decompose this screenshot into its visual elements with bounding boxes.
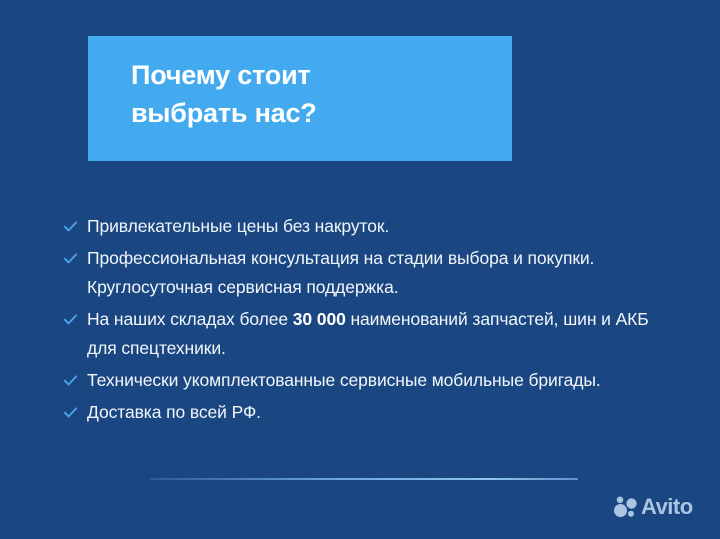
- list-item: На наших складах более 30 000 наименован…: [62, 305, 662, 363]
- check-icon: [62, 212, 78, 241]
- text-run: Профессиональная консультация на стадии …: [87, 248, 594, 297]
- avito-wordmark: Avito: [641, 494, 693, 520]
- heading-box: Почему стоит выбрать нас?: [88, 36, 512, 161]
- avito-dots-icon: [613, 494, 639, 520]
- list-item-label: Доставка по всей РФ.: [87, 398, 662, 427]
- list-item: Технически укомплектованные сервисные мо…: [62, 366, 662, 395]
- list-item-label: Профессиональная консультация на стадии …: [87, 244, 662, 302]
- check-icon: [62, 305, 78, 334]
- check-icon: [62, 244, 78, 273]
- divider: [150, 478, 578, 480]
- text-run: Привлекательные цены без накруток.: [87, 216, 389, 236]
- check-icon: [62, 398, 78, 427]
- list-item-label: На наших складах более 30 000 наименован…: [87, 305, 662, 363]
- list-item-label: Технически укомплектованные сервисные мо…: [87, 366, 662, 395]
- check-icon: [62, 366, 78, 395]
- list-item: Привлекательные цены без накруток.: [62, 212, 662, 241]
- page-title: Почему стоит выбрать нас?: [131, 56, 317, 132]
- text-run: На наших складах более: [87, 309, 293, 329]
- avito-watermark: Avito: [613, 494, 693, 520]
- emphasis-value: 30 000: [293, 309, 346, 329]
- text-run: Технически укомплектованные сервисные мо…: [87, 370, 601, 390]
- list-item: Доставка по всей РФ.: [62, 398, 662, 427]
- list-item: Профессиональная консультация на стадии …: [62, 244, 662, 302]
- slide-canvas: Почему стоит выбрать нас? Привлекательны…: [0, 0, 720, 539]
- benefits-list: Привлекательные цены без накруток.Профес…: [62, 212, 662, 430]
- list-item-label: Привлекательные цены без накруток.: [87, 212, 662, 241]
- text-run: Доставка по всей РФ.: [87, 402, 261, 422]
